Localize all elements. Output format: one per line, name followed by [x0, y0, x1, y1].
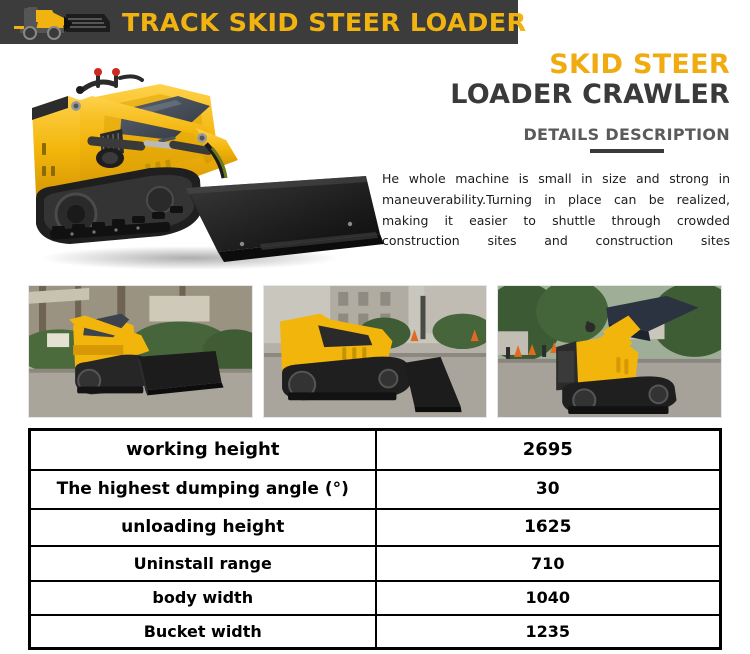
header-bar: TRACK SKID STEER LOADER — [0, 0, 518, 44]
spec-value: 30 — [376, 470, 721, 509]
spec-value: 1040 — [376, 581, 721, 615]
headline-primary: SKID STEER — [382, 50, 730, 79]
skid-steer-loader-icon — [6, 2, 118, 42]
product-description: He whole machine is small in size and st… — [382, 169, 730, 272]
thumbnail-2[interactable] — [263, 285, 488, 418]
table-row: The highest dumping angle (°) 30 — [30, 470, 721, 509]
hero-product-image — [10, 48, 430, 278]
title-underline-rule — [590, 149, 664, 153]
thumbnail-gallery — [28, 285, 722, 418]
spec-value: 1235 — [376, 615, 721, 649]
specification-table: working height 2695 The highest dumping … — [28, 428, 722, 650]
table-row: body width 1040 — [30, 581, 721, 615]
table-row: Uninstall range 710 — [30, 546, 721, 581]
spec-value: 710 — [376, 546, 721, 581]
spec-value: 1625 — [376, 509, 721, 546]
spec-name: body width — [30, 581, 376, 615]
spec-name: The highest dumping angle (°) — [30, 470, 376, 509]
details-description-title: DETAILS DESCRIPTION — [382, 125, 730, 144]
thumbnail-2-image — [264, 286, 487, 417]
spec-name: Bucket width — [30, 615, 376, 649]
table-row: unloading height 1625 — [30, 509, 721, 546]
product-detail-page: TRACK SKID STEER LOADER — [0, 0, 750, 654]
spec-name: Uninstall range — [30, 546, 376, 581]
headline-secondary: LOADER CRAWLER — [382, 80, 730, 110]
spec-name: unloading height — [30, 509, 376, 546]
hero-loader-illustration — [10, 48, 430, 278]
spec-value: 2695 — [376, 430, 721, 470]
thumbnail-3-image — [498, 286, 721, 417]
table-row: Bucket width 1235 — [30, 615, 721, 649]
header-title: TRACK SKID STEER LOADER — [122, 8, 527, 37]
table-row: working height 2695 — [30, 430, 721, 470]
spec-name: working height — [30, 430, 376, 470]
thumbnail-3[interactable] — [497, 285, 722, 418]
headline-column: SKID STEER LOADER CRAWLER DETAILS DESCRI… — [382, 50, 730, 273]
thumbnail-1-image — [29, 286, 252, 417]
thumbnail-1[interactable] — [28, 285, 253, 418]
